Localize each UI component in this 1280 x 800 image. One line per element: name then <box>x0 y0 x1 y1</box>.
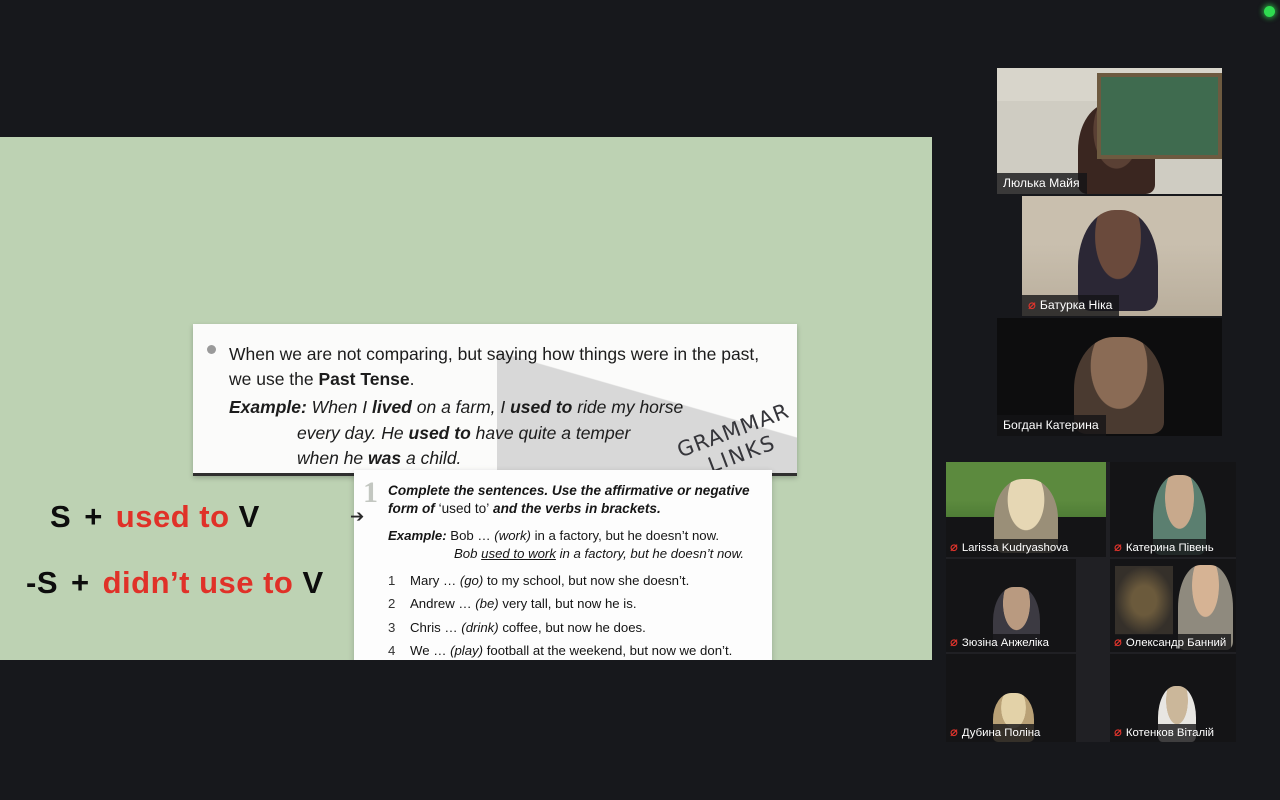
exercise-item-text-a: Chris … <box>410 620 461 635</box>
video-tile-dubyna-polina[interactable]: ⌀ Дубина Поліна <box>946 654 1076 742</box>
grammar-example-label: Example: <box>229 397 307 417</box>
list-item: 3Chris … (drink) coffee, but now he does… <box>388 616 762 640</box>
mic-muted-icon: ⌀ <box>1114 541 1122 554</box>
participant-name: Олександр Банний <box>1126 637 1226 649</box>
video-tile-larissa-kudryashova[interactable]: ⌀ Larissa Kudryashova <box>946 462 1106 557</box>
mic-muted-icon: ⌀ <box>950 541 958 554</box>
shared-slide: S+used to V -S+didn’t use to V GRAMMAR L… <box>0 137 932 660</box>
video-tile-oleksandr-bannyi[interactable]: ⌀ Олександр Банний <box>1110 559 1236 652</box>
video-tile-kotenkov-vitalii[interactable]: ⌀ Котенков Віталій <box>1110 654 1236 742</box>
video-tile-zyuzina-anzhelika[interactable]: ⌀ Зюзіна Анжеліка <box>946 559 1076 652</box>
participant-name: Люлька Майя <box>1003 176 1080 190</box>
participant-name-badge: ⌀ Катерина Півень <box>1110 539 1219 557</box>
video-tile-lyulka-maiya[interactable]: Люлька Майя <box>997 68 1222 194</box>
formula-negative-verb: V <box>303 565 324 600</box>
video-tile-kateryna-piven[interactable]: ⌀ Катерина Півень <box>1110 462 1236 557</box>
exercise-item-verb: (be) <box>475 596 498 611</box>
mic-muted-icon: ⌀ <box>950 726 958 739</box>
grammar-example-1d: used to <box>510 397 572 417</box>
exercise-example-prompt-a: Bob … <box>447 528 495 543</box>
exercise-item-text-b: to my school, but now she doesn’t. <box>483 573 689 588</box>
grammar-example-2c: have quite a temper <box>471 423 631 443</box>
exercise-example-label: Example: <box>388 528 447 543</box>
formula-affirmative-plus: + <box>84 499 103 534</box>
participant-name: Larissa Kudryashova <box>962 542 1068 554</box>
participant-name: Батурка Ніка <box>1040 298 1113 312</box>
exercise-example-prompt-verb: (work) <box>494 528 531 543</box>
grammar-rule-bold: Past Tense <box>319 369 410 389</box>
participant-name-badge: ⌀ Котенков Віталій <box>1110 724 1219 742</box>
grammar-example-line2: every day. He used to have quite a tempe… <box>211 421 777 446</box>
formula-negative-phrase: didn’t use to <box>103 565 294 600</box>
exercise-item-text: Andrew … (be) very tall, but now he is. <box>410 592 637 616</box>
video-tile-grid: ⌀ Larissa Kudryashova ⌀ Катерина Півень … <box>946 462 1236 742</box>
participant-name: Богдан Катерина <box>1003 418 1099 432</box>
exercise-example-answer-underlined: used to work <box>481 546 556 561</box>
video-tile-baturka-nika[interactable]: ⌀ Батурка Ніка <box>1022 196 1222 316</box>
exercise-item-text-b: coffee, but now he does. <box>499 620 646 635</box>
grammar-example-3b: was <box>368 448 401 468</box>
exercise-item-number: 3 <box>388 616 410 640</box>
grammar-example-2b: used to <box>409 423 471 443</box>
formula-negative-subject: -S <box>26 565 58 600</box>
exercise-item-list: 1Mary … (go) to my school, but now she d… <box>388 569 762 660</box>
list-item: 2Andrew … (be) very tall, but now he is. <box>388 592 762 616</box>
exercise-item-text-a: Mary … <box>410 573 460 588</box>
grammar-example-2a: every day. He <box>297 423 409 443</box>
participant-name-badge: ⌀ Зюзіна Анжеліка <box>946 634 1054 652</box>
grammar-example-line3: when he was a child. <box>211 446 777 471</box>
grammar-rule-text: When we are not comparing, but saying ho… <box>211 342 777 392</box>
formula-affirmative-verb: V <box>239 499 260 534</box>
exercise-item-number: 1 <box>388 569 410 593</box>
exercise-item-text-b: football at the weekend, but now we don’… <box>483 643 732 658</box>
exercise-item-text: Mary … (go) to my school, but now she do… <box>410 569 689 593</box>
mic-muted-icon: ⌀ <box>1114 636 1122 649</box>
participant-name-badge: ⌀ Дубина Поліна <box>946 724 1045 742</box>
mouse-cursor-arrow: ➔ <box>350 509 364 526</box>
exercise-item-verb: (drink) <box>461 620 498 635</box>
grammar-rule-part1: When we are not comparing, but saying ho… <box>229 344 759 389</box>
exercise-item-verb: (play) <box>450 643 483 658</box>
list-item: 1Mary … (go) to my school, but now she d… <box>388 569 762 593</box>
grammar-example-1b: lived <box>372 397 412 417</box>
participant-name: Котенков Віталій <box>1126 727 1214 739</box>
exercise-item-text-b: very tall, but now he is. <box>499 596 637 611</box>
exercise-example-answer: Bob used to work in a factory, but he do… <box>388 546 762 561</box>
exercise-example-answer-b: in a factory, but he doesn’t now. <box>556 546 744 561</box>
exercise-example-prompt-b: in a factory, but he doesn’t now. <box>531 528 719 543</box>
participant-name-badge: ⌀ Олександр Банний <box>1110 634 1231 652</box>
screen-share-meeting-view: S+used to V -S+didn’t use to V GRAMMAR L… <box>0 0 1280 800</box>
video-tile-bohdan-kateryna[interactable]: Богдан Катерина <box>997 318 1222 436</box>
list-item: 4We … (play) football at the weekend, bu… <box>388 639 762 660</box>
bullet-icon <box>207 345 216 354</box>
exercise-number: 1 <box>363 476 378 510</box>
grammar-example-1e: ride my horse <box>572 397 683 417</box>
participant-name-badge: Люлька Майя <box>997 173 1087 194</box>
mic-muted-icon: ⌀ <box>950 636 958 649</box>
exercise-item-number: 2 <box>388 592 410 616</box>
exercise-item-text: Chris … (drink) coffee, but now he does. <box>410 616 646 640</box>
exercise-item-verb: (go) <box>460 573 483 588</box>
exercise-item-text-a: Andrew … <box>410 596 475 611</box>
recording-indicator-dot <box>1264 6 1275 17</box>
grammar-example-3a: when he <box>297 448 368 468</box>
exercise-example-answer-a: Bob <box>454 546 481 561</box>
exercise-item-text-a: We … <box>410 643 450 658</box>
mic-muted-icon: ⌀ <box>1028 299 1036 312</box>
participant-name-badge: Богдан Катерина <box>997 415 1106 436</box>
participant-name: Дубина Поліна <box>962 727 1041 739</box>
formula-affirmative-subject: S <box>50 499 71 534</box>
grammar-example-1a: When I <box>307 397 372 417</box>
participant-name: Зюзіна Анжеліка <box>962 637 1049 649</box>
exercise-card: 1 Complete the sentences. Use the affirm… <box>354 470 772 660</box>
formula-negative: -S+didn’t use to V <box>26 565 324 601</box>
exercise-instruction-b: and the verbs in brackets. <box>489 501 661 516</box>
formula-affirmative: S+used to V <box>50 499 260 535</box>
exercise-item-text: We … (play) football at the weekend, but… <box>410 639 732 660</box>
participant-name-badge: ⌀ Larissa Kudryashova <box>946 539 1073 557</box>
exercise-instruction: Complete the sentences. Use the affirmat… <box>388 482 762 518</box>
grammar-example-line1: Example: When I lived on a farm, I used … <box>211 395 777 420</box>
exercise-example-prompt: Example: Bob … (work) in a factory, but … <box>388 527 762 545</box>
participant-name-badge: ⌀ Батурка Ніка <box>1022 295 1119 316</box>
formula-affirmative-phrase: used to <box>116 499 230 534</box>
participant-name: Катерина Півень <box>1126 542 1214 554</box>
formula-negative-plus: + <box>71 565 90 600</box>
grammar-rule-end: . <box>410 369 415 389</box>
exercise-item-number: 4 <box>388 639 410 660</box>
grammar-rule-card: GRAMMAR LINKS When we are not comparing,… <box>193 324 797 476</box>
exercise-instruction-quote: ‘used to’ <box>439 501 490 516</box>
grammar-example-1c: on a farm, I <box>412 397 510 417</box>
grammar-example-3c: a child. <box>401 448 461 468</box>
video-tile-column: Люлька Майя ⌀ Батурка Ніка Богдан Катери… <box>997 68 1222 194</box>
mic-muted-icon: ⌀ <box>1114 726 1122 739</box>
